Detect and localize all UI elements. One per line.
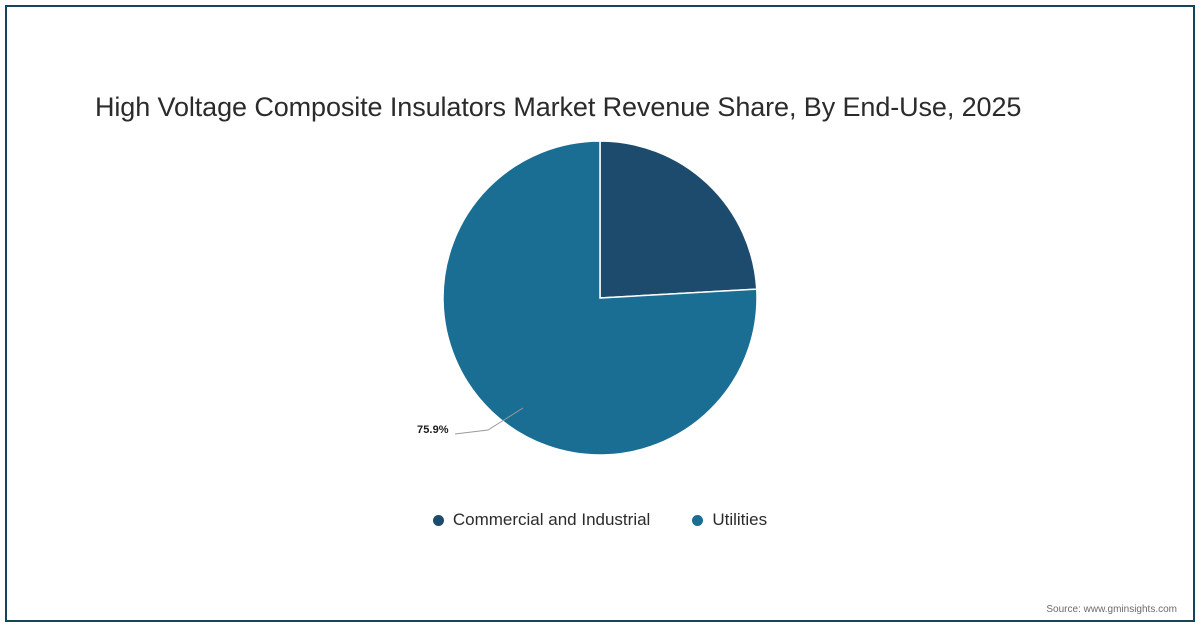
legend-item-commercial-and-industrial[interactable]: Commercial and Industrial [433,510,650,530]
chart-legend: Commercial and Industrial Utilities [0,510,1200,530]
chart-figure: High Voltage Composite Insulators Market… [0,0,1200,627]
legend-label-commercial-and-industrial: Commercial and Industrial [453,510,650,530]
slice-value-label-utilities: 75.9% [417,424,449,436]
legend-item-utilities[interactable]: Utilities [692,510,767,530]
legend-swatch-icon [692,515,703,526]
page-title: High Voltage Composite Insulators Market… [95,88,1115,126]
pie-slice-commercial-and-industrial[interactable] [600,141,757,298]
legend-swatch-icon [433,515,444,526]
source-attribution: Source: www.gminsights.com [1046,604,1177,615]
legend-label-utilities: Utilities [712,510,767,530]
